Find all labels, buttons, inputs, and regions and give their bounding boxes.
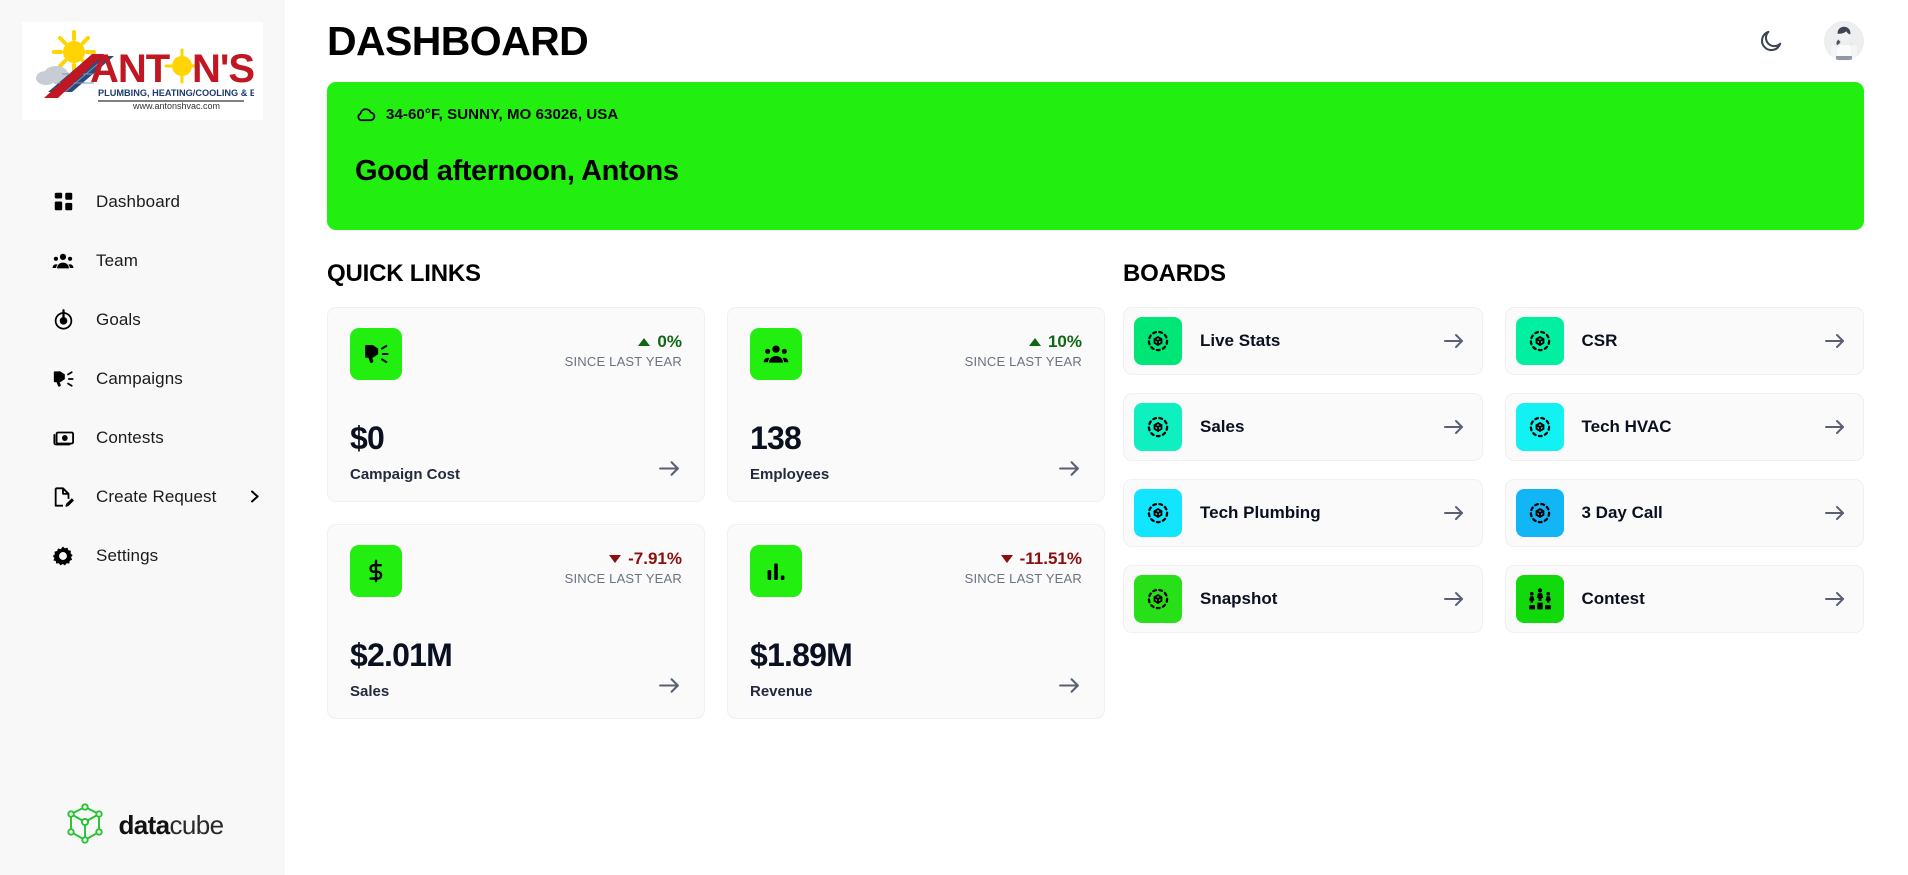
card-footer: $2.01M Sales bbox=[350, 639, 682, 700]
sidebar-item-settings[interactable]: Settings bbox=[0, 526, 285, 585]
board-label: Sales bbox=[1200, 417, 1244, 437]
sidebar-item-label: Team bbox=[96, 251, 138, 271]
quick-links-grid: 0% SINCE LAST YEAR $0 Campaign Cost bbox=[327, 307, 1105, 719]
delta-value: 10% bbox=[965, 332, 1082, 352]
people-icon bbox=[52, 250, 74, 272]
card-header: -7.91% SINCE LAST YEAR bbox=[350, 545, 682, 597]
sidebar-item-dashboard[interactable]: Dashboard bbox=[0, 172, 285, 231]
arrow-right-icon[interactable] bbox=[1442, 415, 1466, 439]
cube-node-icon bbox=[1134, 575, 1182, 623]
grid-icon bbox=[52, 191, 74, 213]
board-card-sales[interactable]: Sales bbox=[1123, 393, 1483, 461]
moon-icon[interactable] bbox=[1758, 28, 1784, 54]
board-label: Contest bbox=[1582, 589, 1645, 609]
quick-links-title: QUICK LINKS bbox=[327, 260, 1105, 288]
sidebar-item-contests[interactable]: Contests bbox=[0, 408, 285, 467]
delta-value: -7.91% bbox=[565, 549, 682, 569]
board-label: Snapshot bbox=[1200, 589, 1277, 609]
content-columns: QUICK LINKS bbox=[327, 260, 1864, 719]
card-value: $2.01M bbox=[350, 639, 452, 673]
delta-period: SINCE LAST YEAR bbox=[565, 571, 682, 586]
target-icon bbox=[52, 309, 74, 331]
greeting-text: Good afternoon, Antons bbox=[355, 155, 1836, 188]
cloud-icon bbox=[355, 104, 376, 125]
datacube-bold: data bbox=[118, 810, 169, 840]
sidebar-nav: Dashboard Team bbox=[0, 172, 285, 585]
arrow-right-icon[interactable] bbox=[1823, 501, 1847, 525]
podium-icon bbox=[1516, 575, 1564, 623]
cube-node-icon bbox=[1516, 489, 1564, 537]
card-label: Campaign Cost bbox=[350, 466, 460, 483]
arrow-right-icon[interactable] bbox=[1823, 329, 1847, 353]
arrow-right-icon[interactable] bbox=[657, 673, 682, 700]
svg-text:ANT: ANT bbox=[90, 47, 170, 91]
arrow-right-icon[interactable] bbox=[1823, 587, 1847, 611]
board-label: Live Stats bbox=[1200, 331, 1280, 351]
delta-period: SINCE LAST YEAR bbox=[965, 354, 1082, 369]
cube-node-icon bbox=[1134, 403, 1182, 451]
logo-url: www.antonshvac.com bbox=[132, 101, 220, 111]
board-card-csr[interactable]: CSR bbox=[1505, 307, 1865, 375]
main-content: DASHBOARD bbox=[285, 0, 1908, 875]
people-icon bbox=[750, 328, 802, 380]
card-label: Revenue bbox=[750, 683, 852, 700]
board-label: CSR bbox=[1582, 331, 1618, 351]
board-card-live-stats[interactable]: Live Stats bbox=[1123, 307, 1483, 375]
bar-chart-icon bbox=[750, 545, 802, 597]
weather-text: 34-60°F, SUNNY, MO 63026, USA bbox=[386, 106, 618, 123]
card-value: 138 bbox=[750, 422, 829, 456]
card-value-block: $0 Campaign Cost bbox=[350, 422, 460, 483]
sidebar: ANT N'S PLUMBING, HEATING/COOLING & ENER… bbox=[0, 0, 285, 875]
arrow-right-icon[interactable] bbox=[1442, 329, 1466, 353]
trend-down-icon bbox=[1001, 555, 1013, 563]
sidebar-item-goals[interactable]: Goals bbox=[0, 290, 285, 349]
megaphone-icon bbox=[350, 328, 402, 380]
arrow-right-icon[interactable] bbox=[657, 456, 682, 483]
card-delta-block: 10% SINCE LAST YEAR bbox=[965, 328, 1082, 369]
arrow-right-icon[interactable] bbox=[1057, 456, 1082, 483]
card-value: $1.89M bbox=[750, 639, 852, 673]
board-card-snapshot[interactable]: Snapshot bbox=[1123, 565, 1483, 633]
company-logo[interactable]: ANT N'S PLUMBING, HEATING/COOLING & ENER… bbox=[22, 22, 263, 120]
quick-links-section: QUICK LINKS bbox=[327, 260, 1105, 719]
card-value-block: $2.01M Sales bbox=[350, 639, 452, 700]
arrow-right-icon[interactable] bbox=[1442, 587, 1466, 611]
sidebar-item-campaigns[interactable]: Campaigns bbox=[0, 349, 285, 408]
datacube-wordmark: datacube bbox=[118, 810, 223, 841]
delta-text: -7.91% bbox=[628, 549, 682, 569]
cube-node-icon bbox=[1134, 317, 1182, 365]
card-label: Sales bbox=[350, 683, 452, 700]
chevron-right-icon[interactable] bbox=[247, 489, 262, 504]
quick-link-card[interactable]: 0% SINCE LAST YEAR $0 Campaign Cost bbox=[327, 307, 705, 502]
card-value-block: 138 Employees bbox=[750, 422, 829, 483]
card-delta-block: -7.91% SINCE LAST YEAR bbox=[565, 545, 682, 586]
logo-tagline: PLUMBING, HEATING/COOLING & ENERGY EXPER… bbox=[98, 88, 254, 98]
top-bar: DASHBOARD bbox=[327, 0, 1864, 82]
cube-node-icon bbox=[1516, 317, 1564, 365]
svg-text:N'S: N'S bbox=[192, 47, 254, 91]
delta-value: 0% bbox=[565, 332, 682, 352]
sidebar-item-label: Goals bbox=[96, 310, 141, 330]
board-card-tech-hvac[interactable]: Tech HVAC bbox=[1505, 393, 1865, 461]
sidebar-item-label: Contests bbox=[96, 428, 164, 448]
sidebar-item-label: Campaigns bbox=[96, 369, 183, 389]
card-footer: $1.89M Revenue bbox=[750, 639, 1082, 700]
sidebar-item-label: Settings bbox=[96, 546, 158, 566]
datacube-brand: datacube bbox=[0, 801, 285, 849]
cube-node-icon bbox=[1134, 489, 1182, 537]
card-header: 0% SINCE LAST YEAR bbox=[350, 328, 682, 380]
board-label: Tech Plumbing bbox=[1200, 503, 1321, 523]
quick-link-card[interactable]: 10% SINCE LAST YEAR 138 Employees bbox=[727, 307, 1105, 502]
arrow-right-icon[interactable] bbox=[1057, 673, 1082, 700]
sidebar-item-team[interactable]: Team bbox=[0, 231, 285, 290]
trend-up-icon bbox=[638, 338, 650, 346]
card-header: -11.51% SINCE LAST YEAR bbox=[750, 545, 1082, 597]
antons-logo-icon: ANT N'S PLUMBING, HEATING/COOLING & ENER… bbox=[32, 30, 254, 112]
datacube-logo-icon bbox=[61, 801, 109, 849]
card-label: Employees bbox=[750, 466, 829, 483]
quick-link-card[interactable]: -11.51% SINCE LAST YEAR $1.89M Revenue bbox=[727, 524, 1105, 719]
delta-text: 0% bbox=[657, 332, 682, 352]
card-footer: $0 Campaign Cost bbox=[350, 422, 682, 483]
arrow-right-icon[interactable] bbox=[1442, 501, 1466, 525]
delta-value: -11.51% bbox=[965, 549, 1082, 569]
board-card-tech-plumbing[interactable]: Tech Plumbing bbox=[1123, 479, 1483, 547]
sidebar-item-create-request[interactable]: Create Request bbox=[0, 467, 285, 526]
sidebar-item-label: Create Request bbox=[96, 487, 216, 507]
app-root: ANT N'S PLUMBING, HEATING/COOLING & ENER… bbox=[0, 0, 1908, 875]
user-avatar-image bbox=[1824, 21, 1864, 61]
welcome-banner: 34-60°F, SUNNY, MO 63026, USA Good after… bbox=[327, 82, 1864, 230]
weather-info: 34-60°F, SUNNY, MO 63026, USA bbox=[355, 104, 1836, 125]
board-card-contest[interactable]: Contest bbox=[1505, 565, 1865, 633]
card-footer: 138 Employees bbox=[750, 422, 1082, 483]
board-card-3-day-call[interactable]: 3 Day Call bbox=[1505, 479, 1865, 547]
card-header: 10% SINCE LAST YEAR bbox=[750, 328, 1082, 380]
trend-up-icon bbox=[1029, 338, 1041, 346]
arrow-right-icon[interactable] bbox=[1823, 415, 1847, 439]
card-value: $0 bbox=[350, 422, 460, 456]
delta-text: 10% bbox=[1048, 332, 1082, 352]
board-label: Tech HVAC bbox=[1582, 417, 1672, 437]
delta-period: SINCE LAST YEAR bbox=[965, 571, 1082, 586]
board-label: 3 Day Call bbox=[1582, 503, 1663, 523]
dollar-icon bbox=[350, 545, 402, 597]
megaphone-icon bbox=[52, 368, 74, 390]
page-title: DASHBOARD bbox=[327, 18, 588, 65]
boards-title: BOARDS bbox=[1123, 260, 1864, 288]
document-edit-icon bbox=[52, 486, 74, 508]
quick-link-card[interactable]: -7.91% SINCE LAST YEAR $2.01M Sales bbox=[327, 524, 705, 719]
datacube-light: cube bbox=[170, 810, 224, 840]
money-icon bbox=[52, 427, 74, 449]
boards-grid: Live Stats CSR bbox=[1123, 307, 1864, 633]
card-value-block: $1.89M Revenue bbox=[750, 639, 852, 700]
sidebar-item-label: Dashboard bbox=[96, 192, 180, 212]
top-bar-actions bbox=[1758, 21, 1864, 61]
boards-section: BOARDS Live Stats bbox=[1105, 260, 1864, 719]
gear-icon bbox=[52, 545, 74, 567]
card-delta-block: -11.51% SINCE LAST YEAR bbox=[965, 545, 1082, 586]
cube-node-icon bbox=[1516, 403, 1564, 451]
avatar[interactable] bbox=[1824, 21, 1864, 61]
trend-down-icon bbox=[609, 555, 621, 563]
delta-text: -11.51% bbox=[1020, 549, 1082, 569]
delta-period: SINCE LAST YEAR bbox=[565, 354, 682, 369]
card-delta-block: 0% SINCE LAST YEAR bbox=[565, 328, 682, 369]
